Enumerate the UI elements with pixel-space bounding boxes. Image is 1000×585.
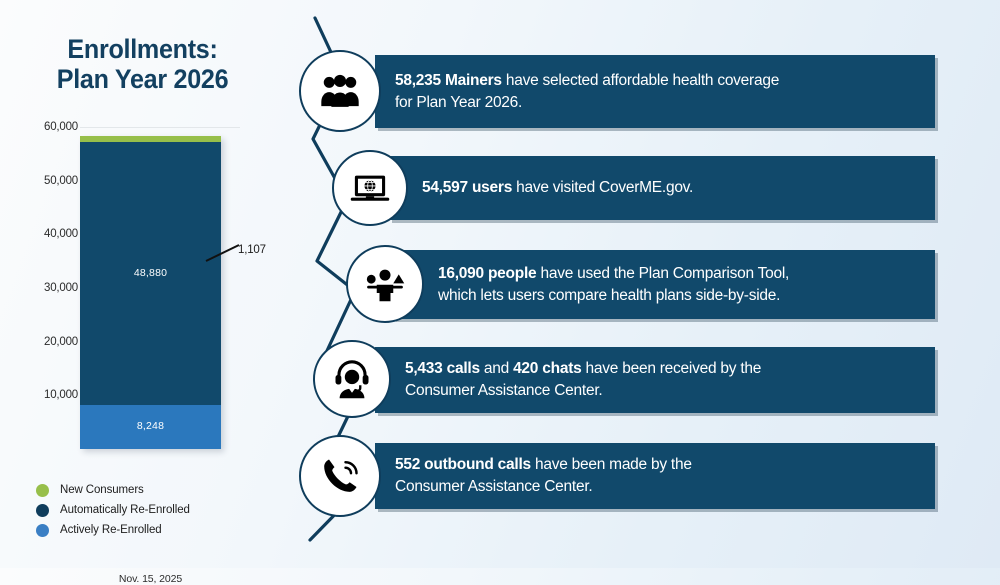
stat-bar: 54,597 users have visited CoverME.gov. — [389, 156, 935, 220]
stat-text: 58,235 Mainers have selected affordable … — [395, 70, 779, 114]
stat-highlight-primary: 5,433 calls — [405, 360, 480, 377]
legend-item-2: Actively Re-Enrolled — [36, 520, 190, 540]
new-consumers-callout-value: 1,107 — [238, 244, 266, 256]
x-axis-label: Nov. 15, 2025 — [80, 573, 221, 585]
page-title: Enrollments: Plan Year 2026 — [10, 34, 275, 94]
stacked-bar-chart: 60,00050,00040,00030,00020,00010,000 8,2… — [0, 118, 295, 463]
chart-title-line-2: Plan Year 2026 — [10, 64, 275, 94]
y-axis-tick-20000: 20,000 — [0, 336, 78, 348]
stat-body-line-1: have been made by the — [531, 456, 692, 473]
legend-label: New Consumers — [60, 484, 144, 496]
legend-swatch — [36, 524, 49, 537]
stat-bar: 5,433 calls and 420 chats have been rece… — [375, 347, 935, 413]
legend-item-1: Automatically Re-Enrolled — [36, 500, 190, 520]
bar-segment-value: 48,880 — [80, 267, 221, 279]
legend-label: Actively Re-Enrolled — [60, 524, 162, 536]
y-axis-tick-30000: 30,000 — [0, 282, 78, 294]
stat-bar: 16,090 people have used the Plan Compari… — [393, 250, 935, 319]
bar-segment-automatically-re-enrolled: 48,880 — [80, 142, 221, 404]
y-axis-tick-10000: 10,000 — [0, 389, 78, 401]
headset-agent-icon — [313, 340, 391, 418]
stat-highlight-primary: 54,597 users — [422, 179, 512, 196]
stat-highlight-primary: 552 outbound calls — [395, 456, 531, 473]
y-axis-tick-50000: 50,000 — [0, 175, 78, 187]
y-axis-tick-60000: 60,000 — [0, 121, 78, 133]
stat-body-line-1: have used the Plan Comparison Tool, — [536, 265, 789, 282]
people-group-icon — [299, 50, 381, 132]
stat-bar: 58,235 Mainers have selected affordable … — [375, 55, 935, 128]
stat-bar: 552 outbound calls have been made by the… — [375, 443, 935, 509]
stat-text: 552 outbound calls have been made by the… — [395, 454, 692, 498]
stat-body-line-1: have visited CoverME.gov. — [512, 179, 693, 196]
stat-body-line-1: have been received by the — [581, 360, 761, 377]
stat-text: 16,090 people have used the Plan Compari… — [438, 263, 789, 307]
chart-legend: New ConsumersAutomatically Re-EnrolledAc… — [36, 480, 190, 540]
stat-text: 5,433 calls and 420 chats have been rece… — [405, 358, 761, 402]
stat-body-line-1: have selected affordable health coverage — [502, 72, 779, 89]
stat-highlight-secondary: 420 chats — [513, 360, 581, 377]
infographic-canvas: Enrollments: Plan Year 2026 60,00050,000… — [0, 0, 1000, 568]
stat-body-line-2: Consumer Assistance Center. — [405, 382, 602, 399]
bar-segment-new-consumers — [80, 136, 221, 142]
stat-conjunction: and — [480, 360, 513, 377]
stat-body-line-2: which lets users compare health plans si… — [438, 287, 780, 304]
stat-body-line-2: for Plan Year 2026. — [395, 94, 522, 111]
legend-swatch — [36, 484, 49, 497]
plan-comparison-icon — [346, 245, 424, 323]
bar-segment-actively-re-enrolled: 8,248 — [80, 405, 221, 449]
stats-panel: 58,235 Mainers have selected affordable … — [295, 0, 1000, 568]
bar-segment-value: 8,248 — [80, 420, 221, 432]
chart-panel: Enrollments: Plan Year 2026 60,00050,000… — [0, 0, 295, 568]
legend-label: Automatically Re-Enrolled — [60, 504, 190, 516]
gridline-60000 — [80, 127, 240, 128]
y-axis-tick-40000: 40,000 — [0, 228, 78, 240]
stat-highlight-primary: 16,090 people — [438, 265, 536, 282]
stat-body-line-2: Consumer Assistance Center. — [395, 478, 592, 495]
legend-swatch — [36, 504, 49, 517]
outbound-phone-icon — [299, 435, 381, 517]
stat-text: 54,597 users have visited CoverME.gov. — [422, 177, 693, 199]
laptop-globe-icon — [332, 150, 408, 226]
legend-item-0: New Consumers — [36, 480, 190, 500]
chart-title-line-1: Enrollments: — [10, 34, 275, 64]
stat-highlight-primary: 58,235 Mainers — [395, 72, 502, 89]
